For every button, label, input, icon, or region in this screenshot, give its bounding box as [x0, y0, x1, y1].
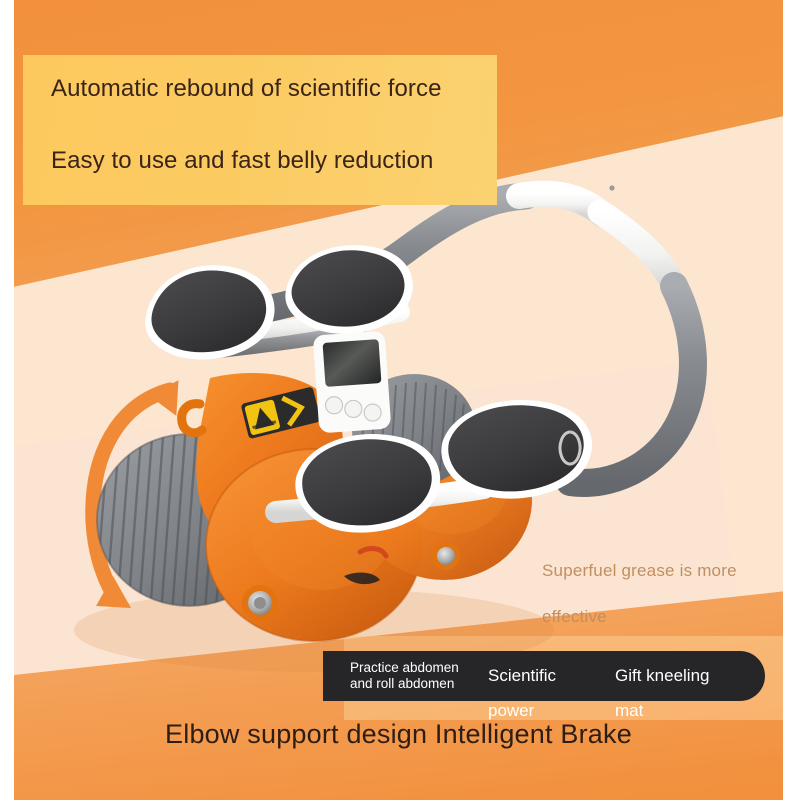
feature-overflow-mat: mat	[615, 701, 643, 721]
feature-cell-scientific-label: Scientific	[488, 666, 556, 686]
reset-button-icon	[364, 404, 382, 422]
set-button-icon	[344, 400, 362, 418]
bottom-headline: Elbow support design Intelligent Brake	[14, 719, 783, 750]
headline-box: Automatic rebound of scientific force Ea…	[23, 55, 497, 205]
feature-cell-gift: Gift kneeling	[615, 651, 710, 701]
feature-cell-gift-label: Gift kneeling	[615, 666, 710, 686]
feature-cell-scientific: Scientific	[488, 651, 556, 701]
feature-cell-practice: Practice abdomen and roll abdomen	[350, 651, 459, 701]
digital-counter-display	[313, 331, 392, 434]
product-banner-canvas: Automatic rebound of scientific force Ea…	[0, 0, 800, 800]
secondary-wheel-axle-icon	[432, 542, 460, 570]
tan-copy-line-1: Superfuel grease is more	[542, 561, 737, 581]
artboard: Automatic rebound of scientific force Ea…	[14, 0, 783, 800]
tan-copy-line-2: effective	[542, 607, 607, 627]
wheel-axle-bolt-icon	[242, 585, 278, 621]
mode-button-icon	[325, 396, 343, 414]
feature-cell-practice-label: Practice abdomen and roll abdomen	[350, 660, 459, 691]
headline-line-1: Automatic rebound of scientific force	[51, 74, 451, 103]
feature-pill-bar: Practice abdomen and roll abdomen Scient…	[323, 651, 765, 701]
feature-overflow-power: power	[488, 701, 534, 721]
headline-line-2: Easy to use and fast belly reduction	[51, 146, 491, 175]
